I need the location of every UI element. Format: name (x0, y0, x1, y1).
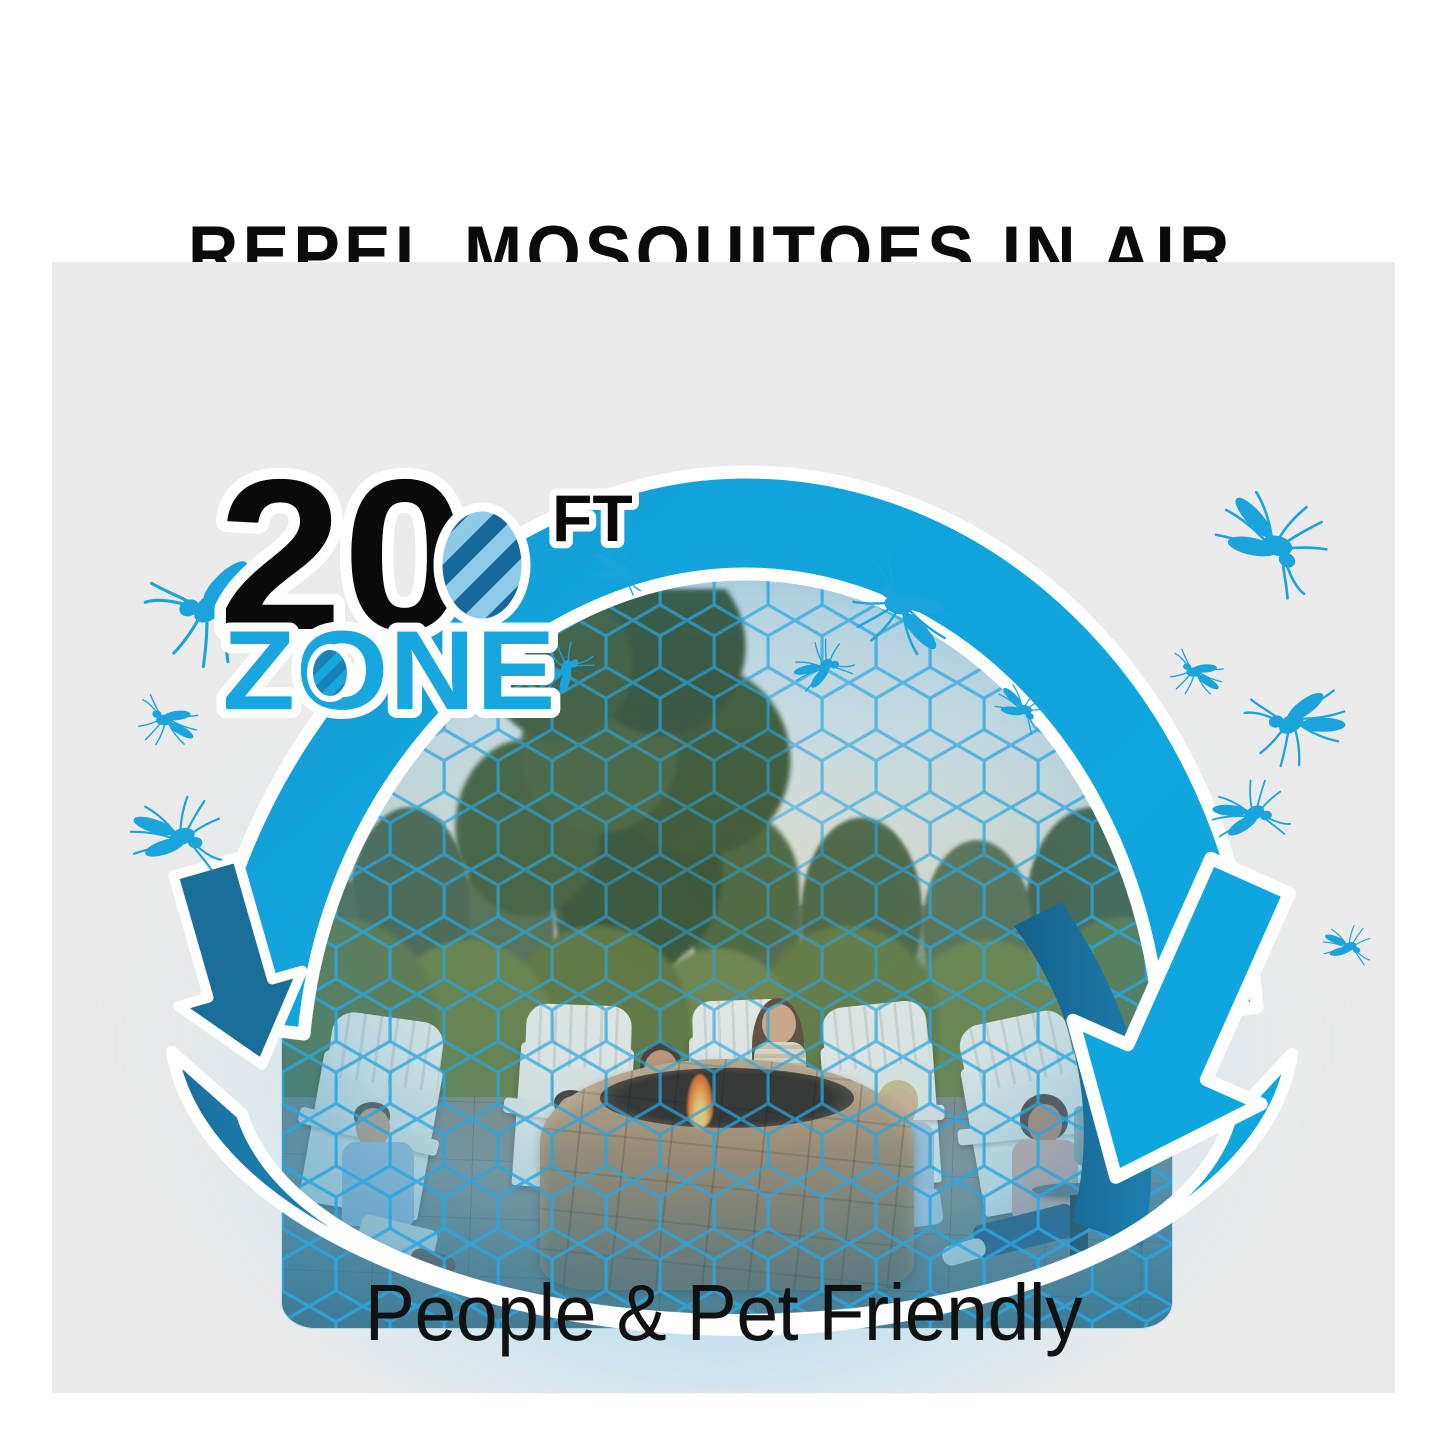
badge-unit: FT (552, 481, 633, 555)
zone-o-counter-stripe (310, 647, 350, 699)
twenty-ft-zone-badge: 20 20 FT FT ZONE ZONE (214, 457, 664, 722)
zero-counter-stripe (438, 507, 526, 623)
badge-word: ZONE (222, 609, 556, 733)
tagline-text: People & Pet Friendly (92, 1267, 1354, 1359)
product-feature-panel: 20 20 FT FT ZONE ZONE People & Pet Frien… (52, 262, 1395, 1393)
